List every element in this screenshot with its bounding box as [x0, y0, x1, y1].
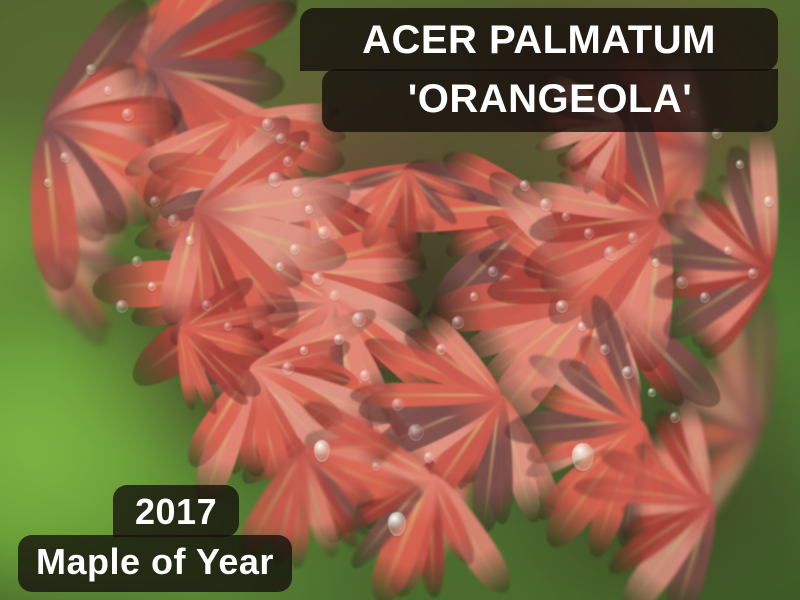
water-droplet: [300, 346, 308, 355]
water-droplet: [628, 232, 638, 243]
water-droplet: [224, 322, 232, 331]
title-overlay: ACER PALMATUM 'ORANGEOLA': [300, 8, 778, 132]
title-line-1: ACER PALMATUM: [300, 8, 778, 71]
water-droplet: [276, 133, 286, 144]
water-droplet: [622, 366, 634, 379]
water-droplet: [452, 316, 464, 329]
water-droplet: [604, 246, 618, 261]
water-droplet: [736, 160, 744, 169]
water-droplet: [168, 214, 180, 227]
water-droplet: [520, 180, 530, 191]
water-droplet: [276, 262, 284, 271]
water-droplet: [392, 398, 404, 411]
water-droplet: [268, 172, 282, 187]
water-droplet: [290, 244, 300, 255]
water-droplet: [360, 370, 370, 381]
water-droplet: [283, 156, 293, 167]
water-droplet: [562, 212, 570, 221]
title-line-2: 'ORANGEOLA': [322, 69, 778, 132]
water-droplet: [700, 292, 710, 303]
water-droplet: [724, 246, 732, 255]
water-droplet: [424, 452, 434, 463]
water-droplet: [330, 290, 340, 301]
water-droplet: [352, 312, 366, 327]
water-droplet: [132, 256, 142, 267]
water-droplet: [186, 236, 194, 245]
water-droplet: [488, 266, 498, 277]
water-droplet: [652, 258, 660, 267]
water-droplet: [648, 388, 656, 397]
image-canvas: ACER PALMATUM 'ORANGEOLA' 2017 Maple of …: [0, 0, 800, 600]
caption-overlay: 2017 Maple of Year: [18, 485, 292, 592]
water-droplet: [86, 64, 96, 75]
water-droplet: [578, 322, 586, 331]
water-droplet: [556, 300, 568, 313]
water-droplet: [372, 462, 380, 471]
water-droplet: [150, 196, 160, 207]
water-droplet: [436, 344, 446, 355]
water-droplet: [202, 300, 212, 311]
water-droplet: [305, 205, 313, 214]
water-droplet: [116, 300, 128, 313]
caption-label: Maple of Year: [18, 535, 292, 592]
water-droplet: [318, 226, 330, 239]
water-droplet: [282, 362, 294, 375]
water-droplet: [292, 186, 302, 197]
water-droplet: [748, 268, 758, 279]
water-droplet: [122, 108, 134, 121]
water-droplet: [312, 272, 324, 285]
water-droplet: [600, 344, 610, 355]
water-droplet: [670, 412, 680, 423]
water-droplet: [540, 198, 552, 211]
water-droplet: [262, 118, 274, 131]
water-droplet: [334, 334, 344, 345]
water-droplet: [60, 152, 70, 163]
water-droplet: [104, 86, 112, 95]
water-droplet: [764, 196, 774, 207]
water-droplet: [470, 292, 478, 301]
caption-year: 2017: [113, 485, 239, 537]
water-droplet: [44, 178, 52, 187]
water-droplet: [676, 276, 688, 289]
water-droplet: [584, 228, 594, 239]
water-droplet: [300, 141, 308, 150]
water-droplet: [148, 282, 156, 291]
